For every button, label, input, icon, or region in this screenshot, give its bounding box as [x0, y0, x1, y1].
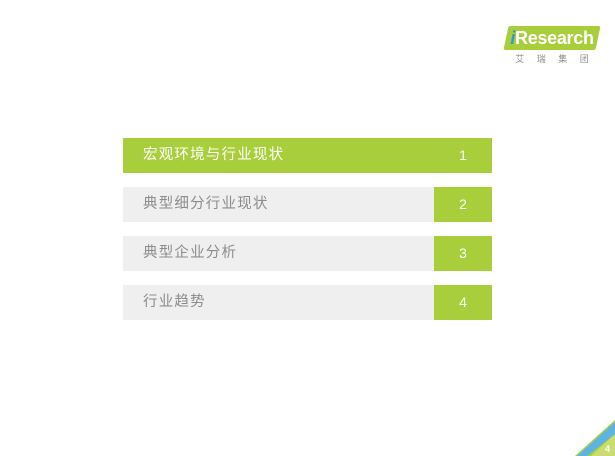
logo-subtitle: 艾 瑞 集 团	[503, 52, 601, 65]
agenda-row-3[interactable]: 典型企业分析 3	[123, 236, 492, 271]
slide-canvas: iResearch 艾 瑞 集 团 宏观环境与行业现状 1 典型细分行业现状 2…	[0, 0, 615, 456]
logo-wordmark: iResearch	[503, 26, 601, 50]
agenda-row-1-label: 宏观环境与行业现状	[123, 138, 434, 173]
agenda-row-4-number: 4	[434, 285, 492, 320]
agenda-row-4[interactable]: 行业趋势 4	[123, 285, 492, 320]
agenda-row-2-label: 典型细分行业现状	[123, 187, 434, 222]
agenda-list: 宏观环境与行业现状 1 典型细分行业现状 2 典型企业分析 3 行业趋势 4	[123, 138, 492, 334]
agenda-row-1-number: 1	[434, 138, 492, 173]
logo-research-text: Research	[515, 28, 594, 48]
agenda-row-4-label: 行业趋势	[123, 285, 434, 320]
iresearch-logo: iResearch 艾 瑞 集 团	[503, 26, 601, 72]
agenda-row-2[interactable]: 典型细分行业现状 2	[123, 187, 492, 222]
corner-decoration: 4	[571, 420, 615, 456]
agenda-row-1[interactable]: 宏观环境与行业现状 1	[123, 138, 492, 173]
agenda-row-3-label: 典型企业分析	[123, 236, 434, 271]
agenda-row-2-number: 2	[434, 187, 492, 222]
agenda-row-3-number: 3	[434, 236, 492, 271]
page-number: 4	[605, 445, 610, 454]
